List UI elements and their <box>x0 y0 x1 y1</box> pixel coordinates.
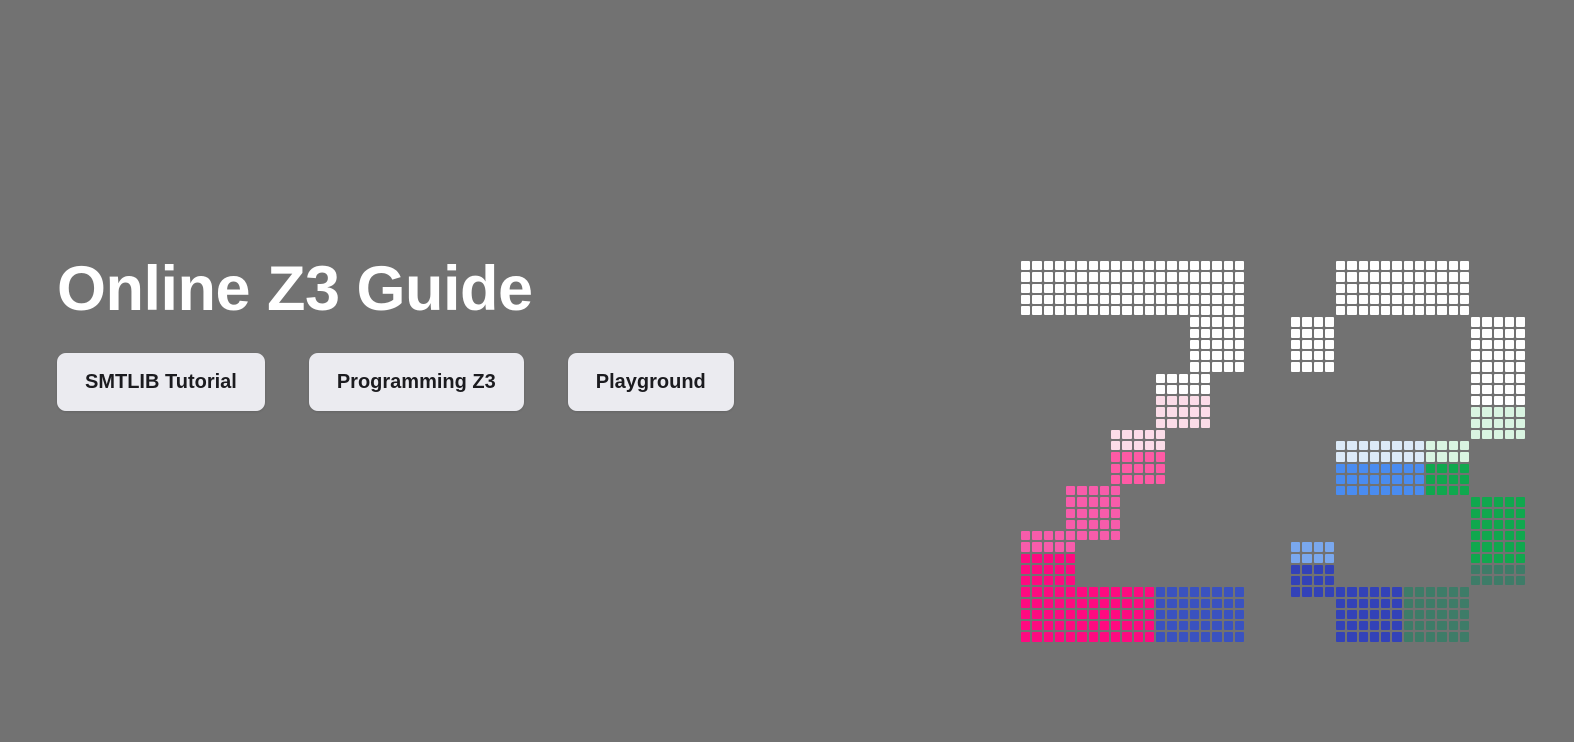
logo-pixel <box>1145 464 1154 473</box>
logo-pixel <box>1111 475 1120 484</box>
logo-pixel <box>1235 261 1244 270</box>
logo-pixel <box>1212 362 1221 371</box>
logo-pixel <box>1179 407 1188 416</box>
logo-pixel <box>1302 576 1311 585</box>
logo-pixel <box>1449 295 1458 304</box>
logo-pixel <box>1460 464 1469 473</box>
logo-pixel <box>1212 306 1221 315</box>
logo-pixel <box>1145 587 1154 596</box>
logo-pixel <box>1449 599 1458 608</box>
logo-pixel <box>1100 306 1109 315</box>
logo-pixel <box>1516 419 1525 428</box>
logo-pixel <box>1415 621 1424 630</box>
logo-pixel <box>1392 475 1401 484</box>
logo-pixel <box>1190 385 1199 394</box>
logo-pixel <box>1381 587 1390 596</box>
logo-pixel <box>1370 610 1379 619</box>
logo-pixel <box>1426 587 1435 596</box>
logo-pixel <box>1111 284 1120 293</box>
playground-button[interactable]: Playground <box>568 353 734 411</box>
logo-pixel <box>1437 464 1446 473</box>
logo-pixel <box>1190 272 1199 281</box>
logo-pixel <box>1077 520 1086 529</box>
logo-pixel <box>1032 284 1041 293</box>
logo-pixel <box>1066 587 1075 596</box>
logo-pixel <box>1235 340 1244 349</box>
logo-pixel <box>1482 430 1491 439</box>
logo-pixel <box>1089 486 1098 495</box>
logo-pixel <box>1325 542 1334 551</box>
logo-pixel <box>1494 430 1503 439</box>
logo-pixel <box>1516 542 1525 551</box>
logo-pixel <box>1482 497 1491 506</box>
logo-pixel <box>1460 486 1469 495</box>
logo-pixel <box>1100 272 1109 281</box>
logo-pixel <box>1212 295 1221 304</box>
logo-pixel <box>1134 475 1143 484</box>
logo-pixel <box>1437 272 1446 281</box>
logo-pixel <box>1224 621 1233 630</box>
logo-pixel <box>1505 419 1514 428</box>
logo-pixel <box>1201 295 1210 304</box>
logo-pixel <box>1426 610 1435 619</box>
logo-pixel <box>1066 272 1075 281</box>
logo-pixel <box>1156 284 1165 293</box>
logo-pixel <box>1471 317 1480 326</box>
logo-pixel <box>1089 587 1098 596</box>
logo-pixel <box>1201 385 1210 394</box>
logo-pixel <box>1426 306 1435 315</box>
logo-pixel <box>1347 452 1356 461</box>
logo-pixel <box>1066 576 1075 585</box>
logo-pixel <box>1392 610 1401 619</box>
logo-pixel <box>1460 306 1469 315</box>
logo-pixel <box>1032 306 1041 315</box>
logo-pixel <box>1077 486 1086 495</box>
logo-pixel <box>1066 599 1075 608</box>
logo-pixel <box>1516 430 1525 439</box>
logo-pixel <box>1359 587 1368 596</box>
logo-pixel <box>1347 621 1356 630</box>
smtlib-tutorial-button[interactable]: SMTLIB Tutorial <box>57 353 265 411</box>
logo-pixel <box>1179 385 1188 394</box>
logo-pixel <box>1460 632 1469 641</box>
logo-pixel <box>1516 329 1525 338</box>
logo-pixel <box>1201 362 1210 371</box>
logo-pixel <box>1325 554 1334 563</box>
logo-pixel <box>1122 610 1131 619</box>
logo-pixel <box>1494 396 1503 405</box>
logo-pixel <box>1235 610 1244 619</box>
logo-pixel <box>1494 317 1503 326</box>
logo-pixel <box>1471 396 1480 405</box>
logo-pixel <box>1505 576 1514 585</box>
logo-pixel <box>1111 599 1120 608</box>
logo-pixel <box>1336 295 1345 304</box>
logo-pixel <box>1347 306 1356 315</box>
logo-pixel <box>1415 284 1424 293</box>
logo-pixel <box>1471 407 1480 416</box>
logo-pixel <box>1145 599 1154 608</box>
logo-pixel <box>1066 295 1075 304</box>
logo-pixel <box>1190 610 1199 619</box>
logo-pixel <box>1145 452 1154 461</box>
logo-pixel <box>1190 351 1199 360</box>
logo-pixel <box>1190 284 1199 293</box>
hero-text-block: Online Z3 Guide SMTLIB Tutorial Programm… <box>57 258 957 411</box>
logo-pixel <box>1482 362 1491 371</box>
logo-pixel <box>1302 351 1311 360</box>
logo-pixel <box>1224 362 1233 371</box>
logo-pixel <box>1449 610 1458 619</box>
logo-pixel <box>1302 542 1311 551</box>
logo-pixel <box>1426 261 1435 270</box>
logo-pixel <box>1505 497 1514 506</box>
logo-pixel <box>1044 542 1053 551</box>
logo-pixel <box>1291 340 1300 349</box>
programming-z3-button[interactable]: Programming Z3 <box>309 353 524 411</box>
logo-pixel <box>1471 419 1480 428</box>
logo-pixel <box>1359 441 1368 450</box>
logo-pixel <box>1134 621 1143 630</box>
logo-pixel <box>1224 340 1233 349</box>
logo-pixel <box>1471 351 1480 360</box>
logo-pixel <box>1415 261 1424 270</box>
logo-pixel <box>1404 486 1413 495</box>
logo-pixel <box>1122 306 1131 315</box>
logo-pixel <box>1505 317 1514 326</box>
logo-pixel <box>1089 599 1098 608</box>
logo-pixel <box>1055 610 1064 619</box>
logo-pixel <box>1449 261 1458 270</box>
logo-pixel <box>1224 284 1233 293</box>
logo-pixel <box>1167 374 1176 383</box>
logo-pixel <box>1100 497 1109 506</box>
logo-pixel <box>1145 306 1154 315</box>
logo-pixel <box>1044 261 1053 270</box>
logo-pixel <box>1066 565 1075 574</box>
logo-pixel <box>1426 441 1435 450</box>
logo-pixel <box>1212 284 1221 293</box>
logo-pixel <box>1291 542 1300 551</box>
logo-pixel <box>1404 610 1413 619</box>
logo-pixel <box>1449 475 1458 484</box>
logo-pixel <box>1370 306 1379 315</box>
logo-pixel <box>1201 610 1210 619</box>
logo-pixel <box>1235 329 1244 338</box>
logo-pixel <box>1415 599 1424 608</box>
logo-pixel <box>1111 486 1120 495</box>
logo-pixel <box>1201 284 1210 293</box>
logo-pixel <box>1516 531 1525 540</box>
logo-pixel <box>1134 464 1143 473</box>
logo-pixel <box>1235 284 1244 293</box>
logo-pixel <box>1471 576 1480 585</box>
logo-pixel <box>1426 272 1435 281</box>
logo-pixel <box>1111 509 1120 518</box>
logo-pixel <box>1437 306 1446 315</box>
logo-pixel <box>1055 531 1064 540</box>
logo-pixel <box>1449 306 1458 315</box>
logo-pixel <box>1032 610 1041 619</box>
logo-pixel <box>1190 632 1199 641</box>
logo-pixel <box>1482 396 1491 405</box>
logo-pixel <box>1156 430 1165 439</box>
logo-pixel <box>1494 497 1503 506</box>
logo-pixel <box>1100 621 1109 630</box>
logo-pixel <box>1291 351 1300 360</box>
logo-pixel <box>1392 486 1401 495</box>
logo-pixel <box>1021 565 1030 574</box>
logo-pixel <box>1302 587 1311 596</box>
logo-pixel <box>1381 475 1390 484</box>
logo-pixel <box>1482 509 1491 518</box>
logo-pixel <box>1235 599 1244 608</box>
logo-pixel <box>1122 284 1131 293</box>
logo-pixel <box>1100 520 1109 529</box>
logo-pixel <box>1381 306 1390 315</box>
logo-pixel <box>1122 632 1131 641</box>
logo-pixel <box>1437 441 1446 450</box>
logo-pixel <box>1302 340 1311 349</box>
logo-pixel <box>1122 599 1131 608</box>
logo-pixel <box>1190 317 1199 326</box>
logo-pixel <box>1426 284 1435 293</box>
logo-pixel <box>1404 464 1413 473</box>
logo-pixel <box>1167 621 1176 630</box>
logo-pixel <box>1032 576 1041 585</box>
logo-pixel <box>1449 441 1458 450</box>
logo-pixel <box>1235 621 1244 630</box>
logo-pixel <box>1156 441 1165 450</box>
logo-pixel <box>1325 351 1334 360</box>
logo-pixel <box>1325 565 1334 574</box>
logo-pixel <box>1505 509 1514 518</box>
logo-pixel <box>1055 554 1064 563</box>
logo-pixel <box>1089 509 1098 518</box>
logo-pixel <box>1167 419 1176 428</box>
logo-pixel <box>1145 430 1154 439</box>
logo-pixel <box>1314 351 1323 360</box>
logo-pixel <box>1482 419 1491 428</box>
logo-pixel <box>1505 542 1514 551</box>
logo-pixel <box>1032 295 1041 304</box>
logo-pixel <box>1055 261 1064 270</box>
logo-pixel <box>1179 610 1188 619</box>
logo-pixel <box>1167 632 1176 641</box>
logo-pixel <box>1122 587 1131 596</box>
logo-pixel <box>1190 362 1199 371</box>
logo-pixel <box>1359 632 1368 641</box>
logo-pixel <box>1089 261 1098 270</box>
logo-pixel <box>1044 621 1053 630</box>
logo-pixel <box>1201 632 1210 641</box>
logo-pixel <box>1370 441 1379 450</box>
logo-pixel <box>1494 374 1503 383</box>
logo-pixel <box>1516 396 1525 405</box>
logo-pixel <box>1392 284 1401 293</box>
logo-pixel <box>1347 599 1356 608</box>
logo-pixel <box>1449 632 1458 641</box>
logo-pixel <box>1437 475 1446 484</box>
logo-pixel <box>1134 261 1143 270</box>
logo-pixel <box>1359 306 1368 315</box>
logo-pixel <box>1066 632 1075 641</box>
logo-pixel <box>1190 396 1199 405</box>
logo-pixel <box>1156 396 1165 405</box>
logo-pixel <box>1224 351 1233 360</box>
logo-pixel <box>1404 295 1413 304</box>
logo-pixel <box>1505 340 1514 349</box>
logo-pixel <box>1347 441 1356 450</box>
logo-pixel <box>1235 306 1244 315</box>
logo-pixel <box>1021 295 1030 304</box>
logo-pixel <box>1449 587 1458 596</box>
hero-button-group: SMTLIB Tutorial Programming Z3 Playgroun… <box>57 353 957 411</box>
logo-pixel <box>1415 475 1424 484</box>
logo-pixel <box>1359 486 1368 495</box>
logo-pixel <box>1471 385 1480 394</box>
logo-pixel <box>1021 542 1030 551</box>
logo-pixel <box>1077 599 1086 608</box>
logo-pixel <box>1201 587 1210 596</box>
logo-pixel <box>1460 272 1469 281</box>
logo-pixel <box>1302 329 1311 338</box>
logo-pixel <box>1021 621 1030 630</box>
logo-pixel <box>1190 419 1199 428</box>
logo-pixel <box>1134 587 1143 596</box>
logo-pixel <box>1460 284 1469 293</box>
logo-pixel <box>1426 486 1435 495</box>
logo-pixel <box>1516 407 1525 416</box>
logo-pixel <box>1516 576 1525 585</box>
logo-pixel <box>1460 261 1469 270</box>
logo-pixel <box>1190 374 1199 383</box>
logo-pixel <box>1482 329 1491 338</box>
logo-pixel <box>1392 261 1401 270</box>
logo-pixel <box>1156 374 1165 383</box>
logo-pixel <box>1111 441 1120 450</box>
logo-pixel <box>1089 295 1098 304</box>
logo-pixel <box>1426 599 1435 608</box>
logo-pixel <box>1179 632 1188 641</box>
logo-pixel <box>1077 610 1086 619</box>
logo-pixel <box>1460 621 1469 630</box>
logo-pixel <box>1359 452 1368 461</box>
logo-pixel <box>1156 632 1165 641</box>
logo-pixel <box>1111 430 1120 439</box>
logo-pixel <box>1145 295 1154 304</box>
logo-pixel <box>1179 396 1188 405</box>
logo-pixel <box>1437 621 1446 630</box>
logo-pixel <box>1089 497 1098 506</box>
logo-pixel <box>1190 621 1199 630</box>
logo-pixel <box>1460 441 1469 450</box>
logo-pixel <box>1336 475 1345 484</box>
logo-pixel <box>1325 576 1334 585</box>
logo-pixel <box>1179 599 1188 608</box>
logo-pixel <box>1370 599 1379 608</box>
logo-pixel <box>1021 554 1030 563</box>
logo-pixel <box>1066 542 1075 551</box>
logo-pixel <box>1494 419 1503 428</box>
logo-pixel <box>1224 261 1233 270</box>
logo-pixel <box>1077 261 1086 270</box>
logo-pixel <box>1179 306 1188 315</box>
logo-pixel <box>1066 306 1075 315</box>
logo-pixel <box>1359 261 1368 270</box>
logo-pixel <box>1291 329 1300 338</box>
logo-pixel <box>1044 599 1053 608</box>
logo-pixel <box>1089 531 1098 540</box>
logo-pixel <box>1359 284 1368 293</box>
logo-pixel <box>1415 464 1424 473</box>
logo-pixel <box>1314 565 1323 574</box>
logo-pixel <box>1291 576 1300 585</box>
logo-pixel <box>1505 565 1514 574</box>
logo-pixel <box>1437 587 1446 596</box>
logo-pixel <box>1145 261 1154 270</box>
logo-pixel <box>1460 475 1469 484</box>
logo-pixel <box>1224 599 1233 608</box>
logo-pixel <box>1122 441 1131 450</box>
logo-pixel <box>1516 520 1525 529</box>
logo-pixel <box>1179 295 1188 304</box>
logo-pixel <box>1381 452 1390 461</box>
logo-pixel <box>1516 497 1525 506</box>
logo-pixel <box>1190 587 1199 596</box>
logo-pixel <box>1122 261 1131 270</box>
logo-pixel <box>1291 362 1300 371</box>
logo-pixel <box>1370 452 1379 461</box>
logo-pixel <box>1404 452 1413 461</box>
logo-pixel <box>1460 295 1469 304</box>
logo-pixel <box>1100 284 1109 293</box>
logo-pixel <box>1516 565 1525 574</box>
logo-pixel <box>1404 632 1413 641</box>
logo-pixel <box>1134 272 1143 281</box>
logo-pixel <box>1032 599 1041 608</box>
logo-pixel <box>1381 621 1390 630</box>
logo-pixel <box>1314 587 1323 596</box>
logo-pixel <box>1381 295 1390 304</box>
logo-pixel <box>1314 542 1323 551</box>
logo-pixel <box>1032 621 1041 630</box>
logo-pixel <box>1134 430 1143 439</box>
logo-pixel <box>1055 565 1064 574</box>
logo-pixel <box>1201 407 1210 416</box>
logo-pixel <box>1449 272 1458 281</box>
logo-pixel <box>1167 261 1176 270</box>
logo-pixel <box>1336 599 1345 608</box>
logo-pixel <box>1505 351 1514 360</box>
logo-pixel <box>1055 542 1064 551</box>
logo-pixel <box>1494 351 1503 360</box>
logo-pixel <box>1235 632 1244 641</box>
logo-pixel <box>1235 351 1244 360</box>
logo-pixel <box>1482 385 1491 394</box>
logo-pixel <box>1336 587 1345 596</box>
logo-pixel <box>1044 284 1053 293</box>
logo-pixel <box>1494 329 1503 338</box>
logo-pixel <box>1471 329 1480 338</box>
logo-pixel <box>1302 554 1311 563</box>
logo-pixel <box>1167 385 1176 394</box>
logo-pixel <box>1325 329 1334 338</box>
logo-pixel <box>1415 306 1424 315</box>
logo-pixel <box>1482 520 1491 529</box>
logo-pixel <box>1055 576 1064 585</box>
